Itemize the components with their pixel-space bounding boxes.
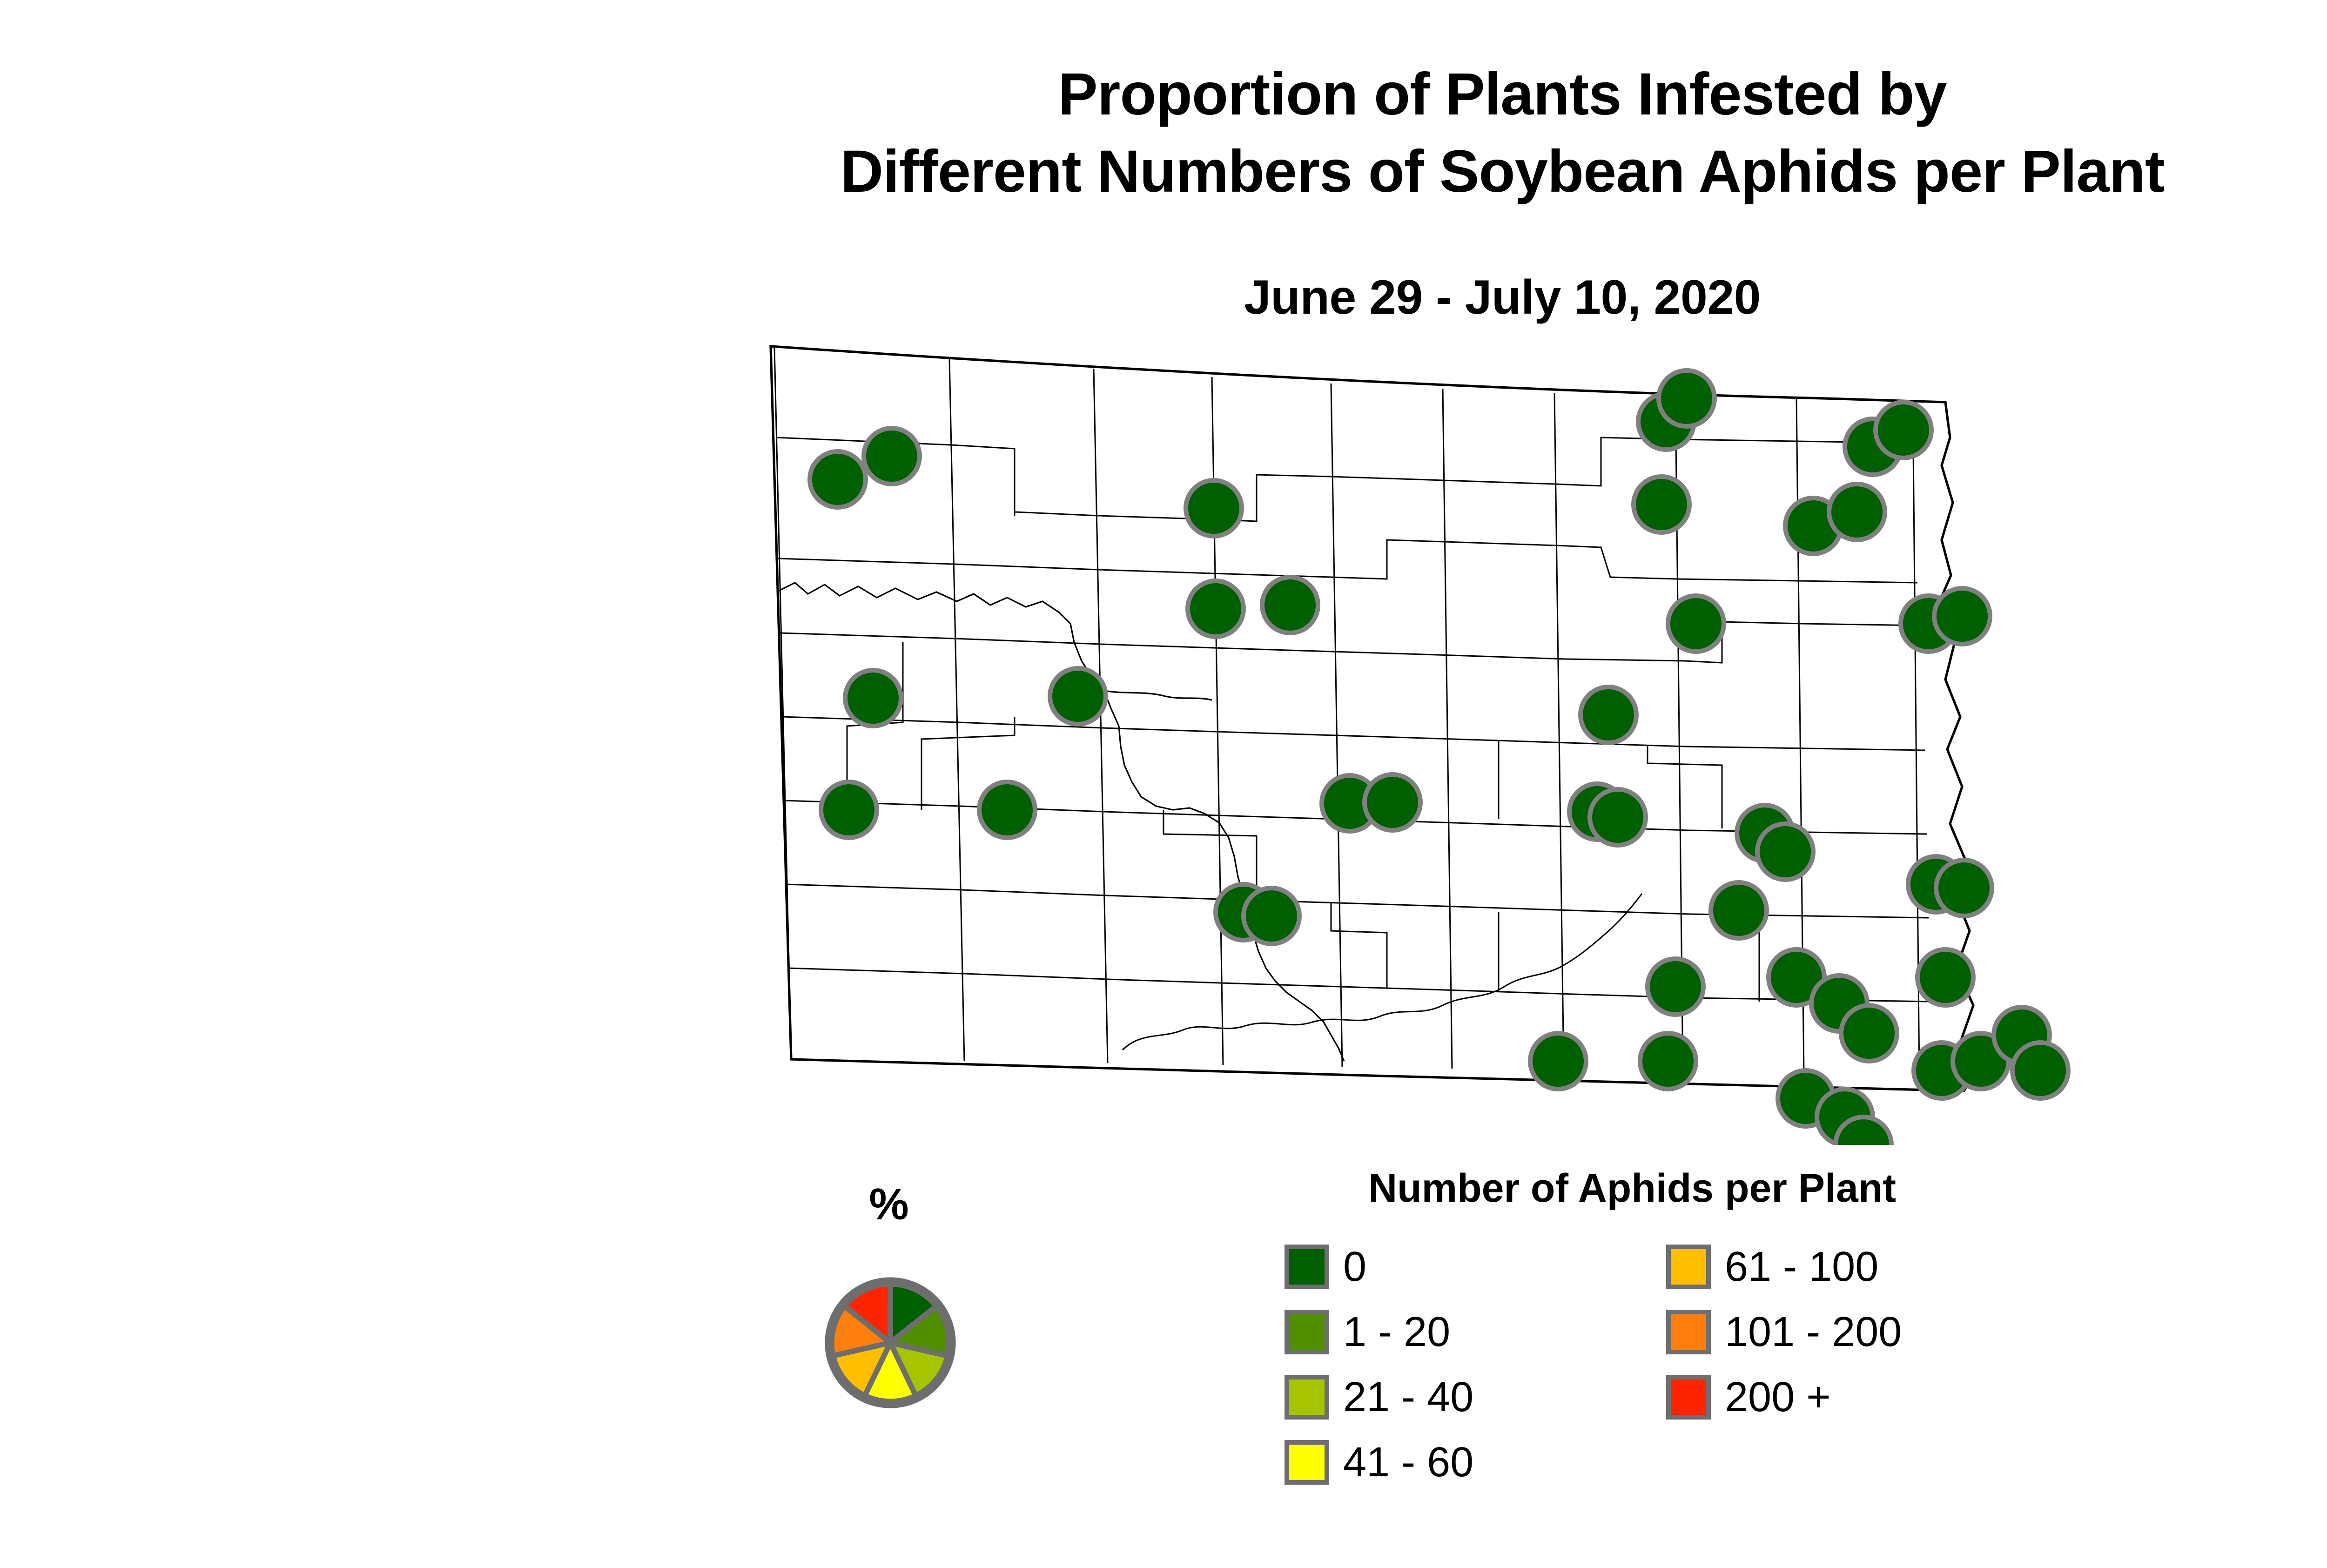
site-pie-marker[interactable] bbox=[1590, 789, 1646, 845]
legend-row[interactable]: 101 - 200 bbox=[1666, 1299, 1902, 1365]
legend-row[interactable]: 1 - 20 bbox=[1285, 1299, 1473, 1365]
legend-row[interactable]: 21 - 40 bbox=[1285, 1365, 1473, 1430]
legend-swatch bbox=[1666, 1375, 1711, 1420]
site-pie-marker[interactable] bbox=[1668, 596, 1724, 652]
date-range-subtitle: June 29 - July 10, 2020 bbox=[0, 270, 2327, 325]
legend-swatch bbox=[1285, 1245, 1329, 1289]
site-pie-marker[interactable] bbox=[1050, 668, 1106, 724]
site-pie-marker[interactable] bbox=[1186, 480, 1242, 536]
site-pie-marker[interactable] bbox=[1262, 577, 1318, 633]
legend-swatch bbox=[1666, 1245, 1711, 1289]
site-pie-marker[interactable] bbox=[1711, 882, 1767, 938]
site-pie-marker[interactable] bbox=[1936, 860, 1992, 916]
site-pie-marker[interactable] bbox=[864, 428, 920, 484]
legend-column-right: 61 - 100101 - 200200 + bbox=[1666, 1234, 1902, 1430]
map-svg bbox=[735, 326, 2094, 1145]
legend-label: 21 - 40 bbox=[1343, 1376, 1473, 1418]
legend-row[interactable]: 200 + bbox=[1666, 1365, 1902, 1430]
site-pie-marker[interactable] bbox=[979, 782, 1035, 838]
legend-swatch bbox=[1666, 1310, 1711, 1354]
legend-label: 41 - 60 bbox=[1343, 1441, 1473, 1483]
pie-chart-icon bbox=[823, 1275, 958, 1410]
legend-row[interactable]: 0 bbox=[1285, 1234, 1473, 1299]
legend-label: 1 - 20 bbox=[1343, 1311, 1450, 1353]
site-pie-marker[interactable] bbox=[1841, 1005, 1897, 1061]
site-pie-marker[interactable] bbox=[1634, 477, 1689, 532]
site-pie-marker[interactable] bbox=[1917, 949, 1973, 1005]
site-pie-marker[interactable] bbox=[1934, 588, 1990, 644]
legend-label: 61 - 100 bbox=[1725, 1246, 1878, 1288]
site-pie-marker[interactable] bbox=[1757, 824, 1813, 880]
legend-row[interactable]: 61 - 100 bbox=[1666, 1234, 1902, 1299]
legend-swatch bbox=[1285, 1440, 1329, 1485]
site-pie-marker[interactable] bbox=[1648, 959, 1703, 1015]
percent-key: % bbox=[791, 1182, 987, 1227]
site-pie-marker[interactable] bbox=[1365, 774, 1420, 830]
legend-title: Number of Aphids per Plant bbox=[1368, 1168, 2076, 1208]
site-pie-marker[interactable] bbox=[1244, 888, 1299, 944]
site-pie-marker[interactable] bbox=[2012, 1043, 2068, 1098]
site-pie-marker[interactable] bbox=[810, 451, 866, 507]
site-pie-marker[interactable] bbox=[821, 782, 877, 838]
legend-label: 200 + bbox=[1725, 1376, 1831, 1418]
site-pie-marker[interactable] bbox=[1829, 484, 1885, 540]
aphid-count-legend: Number of Aphids per Plant 01 - 2021 - 4… bbox=[1285, 1168, 2076, 1234]
site-pie-marker[interactable] bbox=[1640, 1033, 1696, 1089]
legend-label: 0 bbox=[1343, 1246, 1366, 1288]
site-pie-marker[interactable] bbox=[1876, 402, 1931, 458]
north-dakota-map[interactable] bbox=[735, 326, 2094, 1145]
site-pie-marker[interactable] bbox=[1659, 370, 1715, 426]
page-title: Proportion of Plants Infested by Differe… bbox=[0, 56, 2327, 211]
figure-canvas: Proportion of Plants Infested by Differe… bbox=[0, 0, 2327, 1568]
legend-swatch bbox=[1285, 1375, 1329, 1420]
title-line-2: Different Numbers of Soybean Aphids per … bbox=[0, 133, 2327, 210]
site-pie-marker[interactable] bbox=[845, 670, 901, 726]
site-pie-marker[interactable] bbox=[1530, 1033, 1586, 1089]
legend-label: 101 - 200 bbox=[1725, 1311, 1902, 1353]
site-pie-marker[interactable] bbox=[1188, 581, 1244, 637]
site-pie-marker[interactable] bbox=[1580, 687, 1636, 743]
legend-swatch bbox=[1285, 1310, 1329, 1354]
legend-row[interactable]: 41 - 60 bbox=[1285, 1430, 1473, 1495]
legend-column-left: 01 - 2021 - 4041 - 60 bbox=[1285, 1234, 1473, 1495]
title-line-1: Proportion of Plants Infested by bbox=[0, 56, 2327, 133]
percent-symbol-label: % bbox=[791, 1182, 987, 1227]
